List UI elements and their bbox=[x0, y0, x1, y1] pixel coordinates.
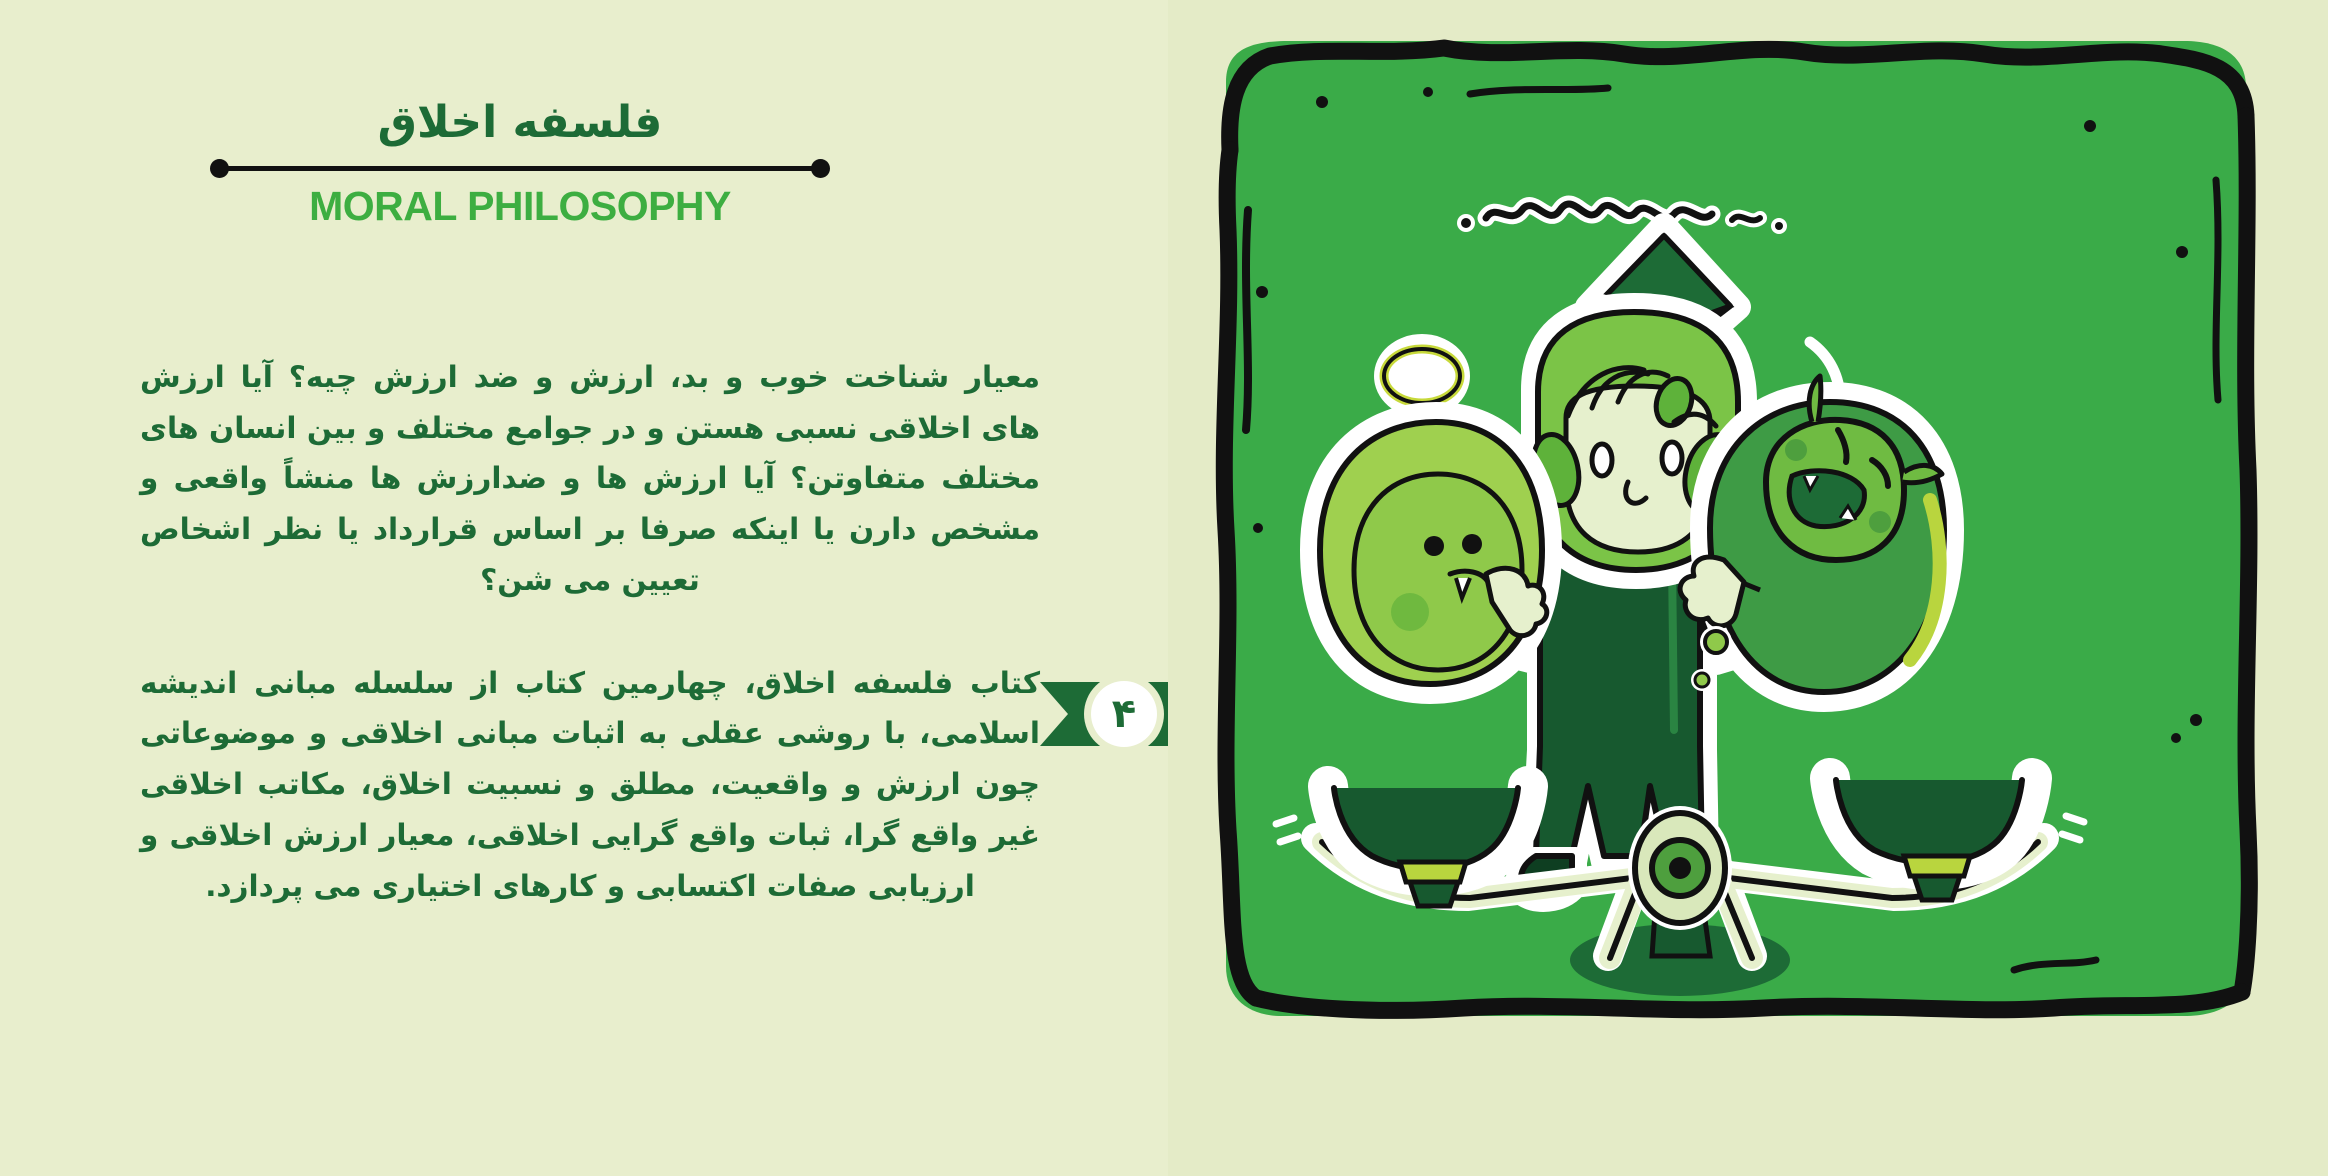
ribbon-shape: ۴ bbox=[1018, 662, 1168, 766]
text-pane: فلسفه اخلاق MORAL PHILOSOPHY معیار شناخت… bbox=[0, 0, 1168, 1176]
page-title-fa: فلسفه اخلاق bbox=[210, 98, 830, 149]
divider-bar bbox=[224, 166, 816, 171]
badge-number: ۴ bbox=[1112, 691, 1136, 737]
illustration-pane bbox=[1168, 0, 2328, 1176]
illustration-artwork bbox=[1204, 30, 2266, 1032]
divider-dot-right bbox=[811, 159, 830, 178]
illustration-green-card bbox=[1204, 30, 2266, 1032]
page-title-en: MORAL PHILOSOPHY bbox=[210, 183, 830, 230]
illustration-frame bbox=[1204, 30, 2266, 1032]
body-block: معیار شناخت خوب و بد، ارزش و ضد ارزش چیه… bbox=[140, 352, 1040, 911]
title-divider bbox=[210, 159, 830, 177]
number-badge-ribbon: ۴ bbox=[1018, 662, 1168, 766]
paragraph-description: کتاب فلسفه اخلاق، چهارمین کتاب از سلسله … bbox=[140, 658, 1040, 912]
paragraph-question: معیار شناخت خوب و بد، ارزش و ضد ارزش چیه… bbox=[140, 352, 1040, 606]
poster-page: فلسفه اخلاق MORAL PHILOSOPHY معیار شناخت… bbox=[0, 0, 2328, 1176]
title-block: فلسفه اخلاق MORAL PHILOSOPHY bbox=[210, 98, 830, 230]
